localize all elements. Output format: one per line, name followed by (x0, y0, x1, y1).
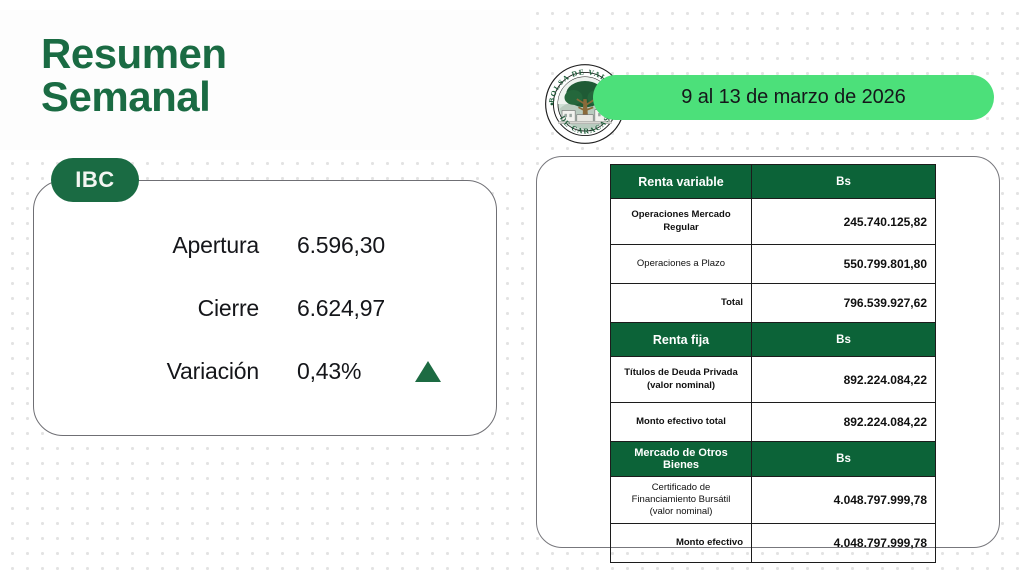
date-range-banner: 9 al 13 de marzo de 2026 (593, 75, 994, 120)
table-row: Monto efectivo total 892.224.084,22 (611, 403, 936, 442)
list-item: Apertura 6.596,30 (33, 226, 497, 264)
ibc-trend-variacion (415, 361, 445, 382)
row-label-monto-efectivo-total: Monto efectivo total (611, 403, 752, 442)
table-row: Operaciones a Plazo 550.799.801,80 (611, 245, 936, 284)
ibc-badge: IBC (51, 158, 139, 202)
row-value-operaciones-mercado-regular: 245.740.125,82 (752, 199, 936, 245)
page-title-line-2: Semanal (41, 76, 471, 119)
row-label-operaciones-mercado-regular: Operaciones Mercado Regular (611, 199, 752, 245)
table-row: Certificado deFinanciamiento Bursátil(va… (611, 477, 936, 524)
row-label-operaciones-a-plazo: Operaciones a Plazo (611, 245, 752, 284)
list-item: Variación 0,43% (33, 352, 497, 390)
ibc-value-variacion: 0,43% (265, 358, 415, 385)
row-value-certificado-financiamiento-bursatil: 4.048.797.999,78 (752, 477, 936, 524)
table-section-header: Renta variable Bs (611, 165, 936, 199)
page-title: Resumen Semanal (41, 33, 471, 119)
background-top-strip (0, 0, 1024, 10)
table-section-header: Renta fija Bs (611, 323, 936, 357)
table-row: Operaciones Mercado Regular 245.740.125,… (611, 199, 936, 245)
page-title-line-1: Resumen (41, 33, 471, 76)
trend-up-icon (415, 361, 441, 382)
row-label-titulos-deuda-privada: Títulos de Deuda Privada(valor nominal) (611, 357, 752, 403)
row-value-monto-efectivo: 4.048.797.999,78 (752, 524, 936, 563)
section-label-mercado-otros-bienes: Mercado de Otros Bienes (611, 442, 752, 477)
ibc-label-variacion: Variación (33, 358, 265, 385)
table-section-header: Mercado de Otros Bienes Bs (611, 442, 936, 477)
ibc-value-cierre: 6.624,97 (265, 295, 415, 322)
ibc-rows: Apertura 6.596,30 Cierre 6.624,97 Variac… (33, 180, 497, 436)
section-label-renta-fija: Renta fija (611, 323, 752, 357)
section-unit-renta-fija: Bs (752, 323, 936, 357)
row-value-titulos-deuda-privada: 892.224.084,22 (752, 357, 936, 403)
row-label-total-renta-variable: Total (611, 284, 752, 323)
table-row: Total 796.539.927,62 (611, 284, 936, 323)
row-value-total-renta-variable: 796.539.927,62 (752, 284, 936, 323)
row-label-monto-efectivo: Monto efectivo (611, 524, 752, 563)
section-unit-renta-variable: Bs (752, 165, 936, 199)
section-label-renta-variable: Renta variable (611, 165, 752, 199)
row-value-operaciones-a-plazo: 550.799.801,80 (752, 245, 936, 284)
section-unit-mercado-otros-bienes: Bs (752, 442, 936, 477)
table-row: Monto efectivo 4.048.797.999,78 (611, 524, 936, 563)
ibc-label-apertura: Apertura (33, 232, 265, 259)
table-row: Títulos de Deuda Privada(valor nominal) … (611, 357, 936, 403)
market-summary-table: Renta variable Bs Operaciones Mercado Re… (610, 164, 936, 563)
ibc-value-apertura: 6.596,30 (265, 232, 415, 259)
row-value-monto-efectivo-total: 892.224.084,22 (752, 403, 936, 442)
ibc-label-cierre: Cierre (33, 295, 265, 322)
row-label-certificado-financiamiento-bursatil: Certificado deFinanciamiento Bursátil(va… (611, 477, 752, 524)
list-item: Cierre 6.624,97 (33, 289, 497, 327)
